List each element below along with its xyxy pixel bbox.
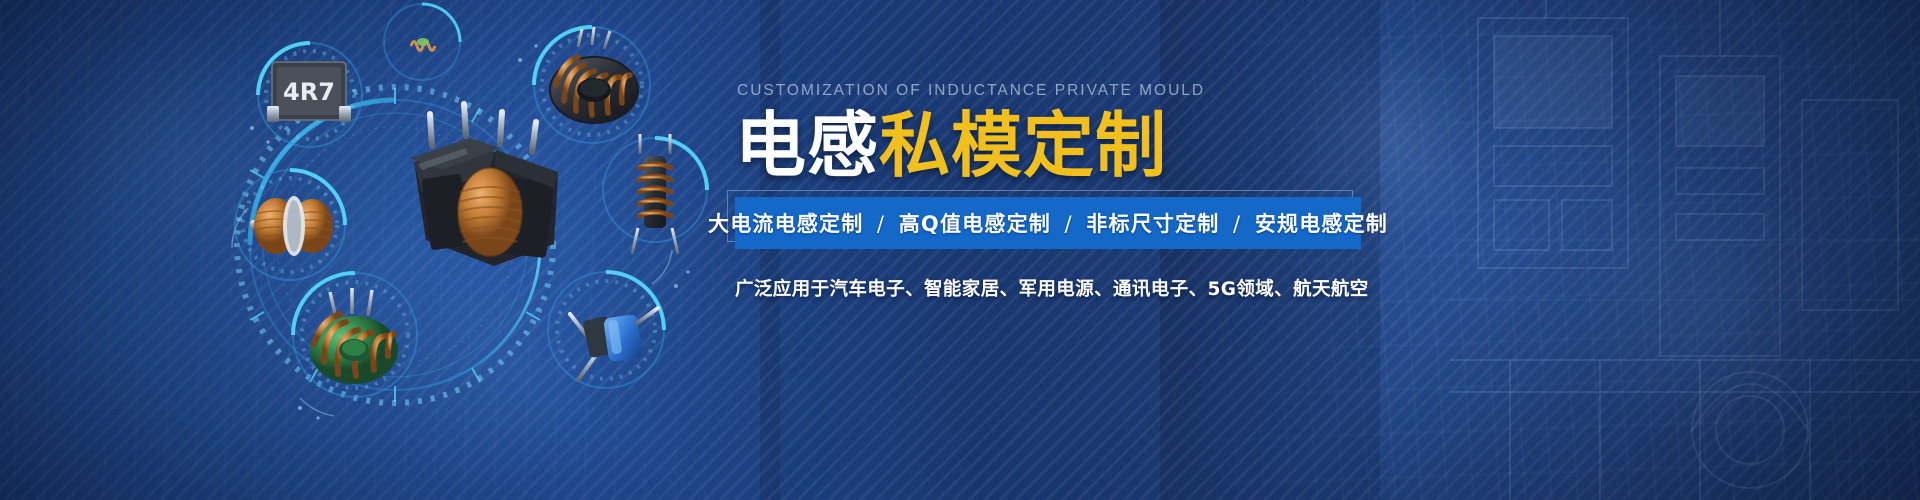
product-toroid-copper [550,27,638,123]
feature-separator-2: / [1228,212,1246,236]
product-showcase: 4R7 [0,0,760,500]
product-smd-inductor: 4R7 [267,62,351,122]
feature-item-1[interactable]: 高Q值电感定制 [899,212,1051,236]
product-rod-choke [632,134,678,254]
feature-item-3[interactable]: 安规电感定制 [1255,212,1388,236]
feature-item-0[interactable]: 大电流电感定制 [708,212,863,236]
product-drum-choke [250,196,333,256]
feature-band-text: 大电流电感定制 / 高Q值电感定制 / 非标尺寸定制 / 安规电感定制 [708,208,1388,238]
banner-copy: CUSTOMIZATION OF INDUCTANCE PRIVATE MOUL… [735,82,1375,301]
banner-eyebrow: CUSTOMIZATION OF INDUCTANCE PRIVATE MOUL… [735,82,1375,100]
feature-item-2[interactable]: 非标尺寸定制 [1086,212,1219,236]
product-common-mode-choke [410,104,558,266]
feature-separator-1: / [1060,212,1078,236]
product-blue-inductor [570,308,658,380]
hud-rings-graphic: 4R7 [0,0,760,500]
headline-accent: 私模定制 [879,104,1167,187]
banner-headline: 电感私模定制 [735,109,1375,183]
product-wire-coil [394,38,454,51]
feature-band: 大电流电感定制 / 高Q值电感定制 / 非标尺寸定制 / 安规电感定制 [735,197,1361,249]
headline-primary: 电感 [735,104,879,187]
feature-separator-0: / [872,212,890,236]
feature-band-wrapper: 大电流电感定制 / 高Q值电感定制 / 非标尺寸定制 / 安规电感定制 [735,197,1361,249]
banner-tagline: 广泛应用于汽车电子、智能家居、军用电源、通讯电子、5G领域、航天航空 [735,275,1375,301]
promo-banner: 4R7 [0,0,1920,500]
product-toroid-green [310,288,398,384]
smd-inductor-code: 4R7 [283,78,335,106]
